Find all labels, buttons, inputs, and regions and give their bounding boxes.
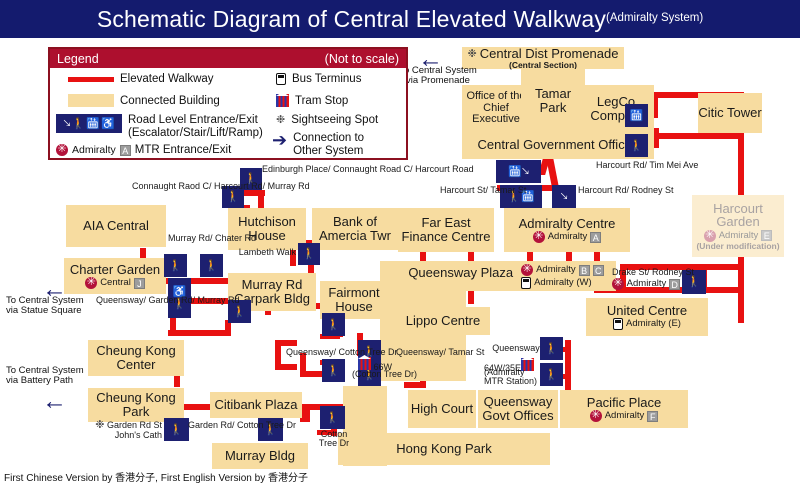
building-note: (Under modification) <box>696 242 779 251</box>
credits-footer: First Chinese Version by 香港分子, First Eng… <box>4 469 308 484</box>
page-subtitle: (Admiralty System) <box>606 12 703 26</box>
entrance-icons-murray-chater-2[interactable]: 🚶 <box>200 254 223 277</box>
page-title: Schematic Diagram of Central Elevated Wa… <box>97 6 606 33</box>
entrance-icons-queensway-cotton-2[interactable]: 🚶 <box>322 359 345 382</box>
building-office-chief-executive[interactable]: Office of the Chief Executive <box>462 85 530 132</box>
ramp-icon: ♿ <box>101 118 115 130</box>
street-label-connaught-harcourt-murray: Connaught Raod C/ Harcourt Rd/ Murray Rd <box>132 182 220 191</box>
mtr-exit-chip: A <box>590 232 601 243</box>
street-label-harcourt-tim-mei: Harcourt Rd/ Tim Mei Ave <box>596 161 666 170</box>
building-murray-bldg[interactable]: Murray Bldg <box>212 443 308 469</box>
entrance-icons-tim-mei[interactable]: 🛗 🡖 <box>496 160 541 183</box>
building-swatch-icon <box>68 94 114 107</box>
legend-label: Road Level Entrance/Exit <box>128 114 263 127</box>
mtr-station-label: Admiralty <box>605 411 645 421</box>
building-block-unlabeled <box>343 386 387 466</box>
building-label: Bank of Amercia Twr <box>312 215 398 242</box>
sightseeing-icon: ❉ <box>468 49 477 60</box>
legend-label: Sightseeing Spot <box>291 114 378 126</box>
building-label: Far East Finance Centre <box>398 216 494 243</box>
mtr-roundel-icon <box>56 144 68 156</box>
building-label: Cheung Kong Park <box>88 391 184 418</box>
sightseeing-icon: ❉ <box>276 115 285 126</box>
legend-mtr-station: Admiralty <box>72 144 116 156</box>
legend-body: Elevated Walkway Connected Building 🡖 🚶 … <box>50 68 406 160</box>
building-far-east-finance-centre[interactable]: Far East Finance Centre <box>398 208 494 252</box>
legend-title: Legend <box>57 52 99 66</box>
legend-sublabel: (Escalator/Stair/Lift/Ramp) <box>128 127 263 140</box>
tram-stop-icon <box>358 357 371 370</box>
street-label-garden-cotton-tree: Garden Rd/ Cotton Tree Dr <box>188 421 256 430</box>
street-label-murray-chater: Murray Rd/ Chater Rd <box>168 234 240 243</box>
mtr-exit-chip: D <box>669 279 680 290</box>
building-high-court[interactable]: High Court <box>408 390 476 428</box>
bus-terminus-label: Admiralty (W) <box>534 278 592 288</box>
escalator-icon: 🚶 <box>169 260 183 272</box>
legend-item-bus-terminus: Bus Terminus <box>276 73 361 85</box>
street-label-queensway-cotton-tree: Queensway/ Cotton Tree Dr <box>286 348 360 357</box>
mtr-roundel-icon <box>704 230 716 242</box>
street-label-queensway-tamar: Queensway/ Tamar St <box>396 348 462 357</box>
building-queensway-govt-offices[interactable]: Queensway Govt Offices <box>478 390 558 428</box>
building-pacific-place[interactable]: Pacific Place Admiralty F <box>560 390 688 428</box>
building-label: Office of the Chief Executive <box>462 91 530 125</box>
escalator-icon: 🚶 <box>327 319 341 331</box>
mtr-roundel-icon <box>590 410 602 422</box>
legend-item-connection-other: ➔ Connection to Other System <box>272 132 364 158</box>
building-label: AIA Central <box>83 219 149 233</box>
building-united-centre[interactable]: United Centre Admiralty (E) <box>586 298 708 336</box>
building-citic-tower[interactable]: Citic Tower <box>698 93 762 133</box>
entrance-icons-cotton-tree-dr-lower[interactable]: 🚶 <box>320 406 345 429</box>
schematic-diagram: Schematic Diagram of Central Elevated Wa… <box>0 0 800 486</box>
stair-icon: 🚶 <box>226 191 240 203</box>
entrance-icons-murray-chater-1[interactable]: 🚶 <box>164 254 187 277</box>
escalator-icon: 🚶 <box>170 424 184 436</box>
legend-item-sightseeing-spot: ❉ Sightseeing Spot <box>276 114 378 126</box>
stair-icon: 🚶 <box>630 140 644 152</box>
building-cheung-kong-park[interactable]: Cheung Kong Park <box>88 388 184 422</box>
legend-item-connected-building: Connected Building <box>68 94 220 107</box>
building-label: Fairmont House <box>320 286 388 313</box>
mtr-station-label: Admiralty <box>536 265 576 275</box>
stair-icon: 🚶 <box>545 343 559 355</box>
building-label: Central Government Offices <box>478 138 639 152</box>
building-bank-of-amercia-twr[interactable]: Bank of Amercia Twr <box>312 208 398 250</box>
entrance-icons-swatch: 🡖 🚶 🛗 ♿ <box>56 114 122 133</box>
bus-terminus-label: Admiralty (E) <box>626 319 681 329</box>
building-label: Charter Garden <box>70 263 160 277</box>
escalator-icon: 🡖 <box>522 166 529 178</box>
street-label-edinburgh-place: Edinburgh Place/ Connaught Road C/ Harco… <box>262 165 372 174</box>
legend-label: Elevated Walkway <box>120 73 214 85</box>
bus-terminus-icon <box>521 277 531 289</box>
mtr-exit-chip: C <box>593 265 604 276</box>
entrance-icons-cgo-stair[interactable]: 🚶 <box>625 134 648 157</box>
mtr-station-label: Central <box>100 278 131 288</box>
street-label-cotton-tree-dr: Cotton Tree Dr <box>314 430 354 449</box>
mtr-roundel-icon <box>612 278 624 290</box>
legend-panel: Legend (Not to scale) Elevated Walkway C… <box>48 47 408 160</box>
building-label: Harcourt Garden <box>692 202 784 229</box>
entrance-icons-harcourt-rodney[interactable]: 🡖 <box>552 185 576 208</box>
building-label: Queensway Plaza <box>408 266 513 280</box>
legend-label: Connected Building <box>120 95 220 107</box>
building-tamar-park[interactable]: Tamar Park <box>521 69 585 132</box>
bus-terminus-icon <box>276 73 286 85</box>
building-citibank-plaza[interactable]: Citibank Plaza <box>210 392 302 418</box>
building-label: Citibank Plaza <box>214 398 297 412</box>
building-label: Citic Tower <box>698 106 761 120</box>
sightseeing-icon: ❉ <box>95 420 104 431</box>
building-admiralty-centre[interactable]: Admiralty Centre Admiralty A <box>504 208 630 252</box>
walkway-swatch-icon <box>68 77 114 82</box>
walkway-segment <box>168 330 230 336</box>
street-label-harcourt-rodney: Harcourt Rd/ Rodney St <box>578 186 648 195</box>
mtr-station-label: Admiralty <box>627 279 667 289</box>
stair-icon: 🚶 <box>72 118 86 130</box>
mtr-exit-chip: A <box>120 145 131 156</box>
building-label: Queensway Govt Offices <box>478 395 558 422</box>
street-label-admiralty-mtr-station: (Admiralty MTR Station) <box>484 368 544 387</box>
building-label: High Court <box>411 402 473 416</box>
walkway-segment <box>300 371 322 377</box>
building-aia-central[interactable]: AIA Central <box>66 205 166 247</box>
arrow-to-battery-path-icon: ← <box>42 392 67 410</box>
mtr-station-label: Admiralty <box>548 232 588 242</box>
building-label: Tamar Park <box>521 87 585 114</box>
street-label-garden-rd-st-johns: ❉ Garden Rd St John's Cath <box>90 420 162 440</box>
building-queensway-plaza[interactable]: Queensway Plaza Admiralty B C Admiralty … <box>380 261 616 291</box>
mtr-exit-chip: J <box>134 278 145 289</box>
mtr-exit-chip: F <box>647 411 658 422</box>
mtr-station-label: Admiralty <box>719 231 759 241</box>
lift-icon: 🛗 <box>508 166 522 178</box>
building-label: Murray Bldg <box>225 449 295 463</box>
building-label: Pacific Place <box>587 396 661 410</box>
legend-sublabel: Other System <box>293 145 364 158</box>
building-label: Central Dist Promenade <box>480 47 619 61</box>
stair-icon: 🚶 <box>687 276 701 288</box>
bus-terminus-icon <box>613 318 623 330</box>
building-label: Lippo Centre <box>406 314 480 328</box>
connection-label-statue-square: To Central Systemvia Statue Square <box>6 296 106 317</box>
building-charter-garden[interactable]: Charter Garden Central J <box>64 258 166 294</box>
walkway-segment <box>404 382 426 388</box>
mtr-roundel-icon <box>533 231 545 243</box>
street-label-queensway-mtr: Queensway <box>486 344 546 353</box>
street-label-lambeth-walk: Lambeth Walk <box>232 248 296 257</box>
entrance-icons-queensway-cotton-1[interactable]: 🚶 <box>322 313 345 336</box>
entrance-icons-garden-rd-st-johns[interactable]: 🚶 <box>164 418 189 441</box>
building-lippo-centre[interactable]: Lippo Centre <box>396 307 490 335</box>
building-hutchison-house[interactable]: Hutchison House <box>228 208 306 250</box>
tram-stop-icon <box>276 94 289 107</box>
legend-label: Tram Stop <box>295 95 348 107</box>
walkway-segment <box>275 364 297 370</box>
building-label: United Centre <box>607 304 687 318</box>
stair-icon: 🚶 <box>327 365 341 377</box>
building-harcourt-garden[interactable]: Harcourt Garden Admiralty E (Under modif… <box>692 195 784 257</box>
mtr-exit-chip: E <box>761 230 772 241</box>
legend-item-road-level-entrance: 🡖 🚶 🛗 ♿ Road Level Entrance/Exit (Escala… <box>56 114 263 140</box>
connection-label-promenade: To Central Systemvia Promenade <box>398 66 478 87</box>
lift-icon: 🛗 <box>86 118 100 130</box>
legend-item-elevated-walkway: Elevated Walkway <box>68 73 214 85</box>
building-label: Hong Kong Park <box>396 442 491 456</box>
mtr-roundel-icon <box>85 277 97 289</box>
street-label-drake-rodney: Drake St/ Rodney St Admiralty D <box>612 268 680 290</box>
stair-icon: 🚶 <box>326 412 340 424</box>
legend-label: Bus Terminus <box>292 73 361 85</box>
stair-icon: 🚶 <box>302 248 316 260</box>
legend-item-tram-stop: Tram Stop <box>276 94 348 107</box>
walkway-segment <box>652 133 744 139</box>
legend-item-mtr-entrance: Admiralty A MTR Entrance/Exit <box>56 144 231 156</box>
street-label-queensway-garden-murray: Queensway/ Garden Rd/ Murray Rd <box>96 296 166 305</box>
legend-scale-note: (Not to scale) <box>325 52 399 66</box>
mtr-exit-chip: B <box>579 265 590 276</box>
entrance-icons-lambeth-walk[interactable]: 🚶 <box>298 243 320 265</box>
escalator-icon: 🡖 <box>63 118 70 130</box>
page-title-bar: Schematic Diagram of Central Elevated Wa… <box>0 0 800 38</box>
building-label: Admiralty Centre <box>519 217 616 231</box>
connection-label-battery-path: To Central Systemvia Battery Path <box>6 366 106 387</box>
street-label-harcourt-tamar: Harcourt St/ Tamar St <box>440 186 498 195</box>
building-central-dist-promenade[interactable]: ❉ Central Dist Promenade (Central Sectio… <box>462 47 624 69</box>
legend-label: Connection to <box>293 132 364 145</box>
legend-header: Legend (Not to scale) <box>50 49 406 68</box>
stair-icon: 🚶 <box>205 260 219 272</box>
stair-icon: 🚶 <box>233 306 247 318</box>
mtr-roundel-icon <box>521 264 533 276</box>
entrance-icons-legco-lift[interactable]: 🛗 <box>625 104 648 127</box>
arrow-right-icon: ➔ <box>272 132 287 148</box>
tram-stop-66w: 66W <box>358 357 408 372</box>
lift-icon: 🛗 <box>630 110 644 122</box>
walkway-segment <box>275 340 297 346</box>
legend-label: MTR Entrance/Exit <box>135 144 232 156</box>
escalator-icon: 🡖 <box>560 191 567 203</box>
